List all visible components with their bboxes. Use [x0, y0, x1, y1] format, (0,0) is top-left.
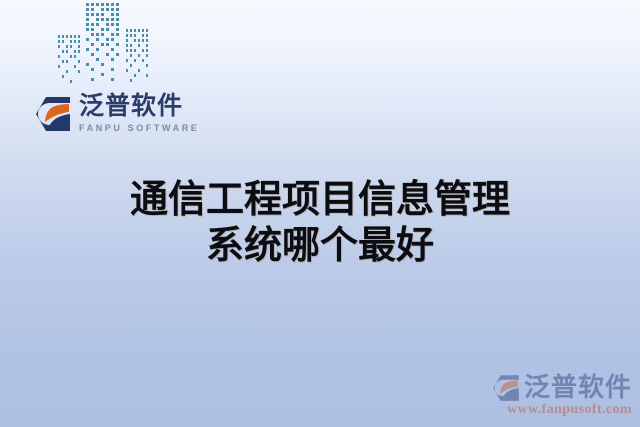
- brand-name-en: FANPU SOFTWARE: [79, 122, 199, 134]
- watermark: 泛普软件 www.fanpusoft.com: [491, 373, 632, 418]
- page-title-line-2: 系统哪个最好: [0, 222, 640, 268]
- brand-logo: 泛普软件 FANPU SOFTWARE: [33, 92, 199, 134]
- watermark-brand-name: 泛普软件: [524, 374, 632, 402]
- page-title-line-1: 通信工程项目信息管理: [0, 176, 640, 222]
- fanpu-logo-icon: [33, 94, 73, 134]
- watermark-url: www.fanpusoft.com: [507, 402, 632, 418]
- promo-banner: 泛普软件 FANPU SOFTWARE 通信工程项目信息管理 系统哪个最好 泛普…: [0, 0, 640, 427]
- pixel-skyline-icon: [55, 0, 151, 86]
- brand-logo-text: 泛普软件 FANPU SOFTWARE: [79, 92, 199, 134]
- brand-name-cn: 泛普软件: [79, 92, 199, 120]
- page-title: 通信工程项目信息管理 系统哪个最好: [0, 176, 640, 268]
- watermark-logo-row: 泛普软件: [491, 373, 632, 403]
- watermark-fanpu-logo-icon: [491, 373, 521, 403]
